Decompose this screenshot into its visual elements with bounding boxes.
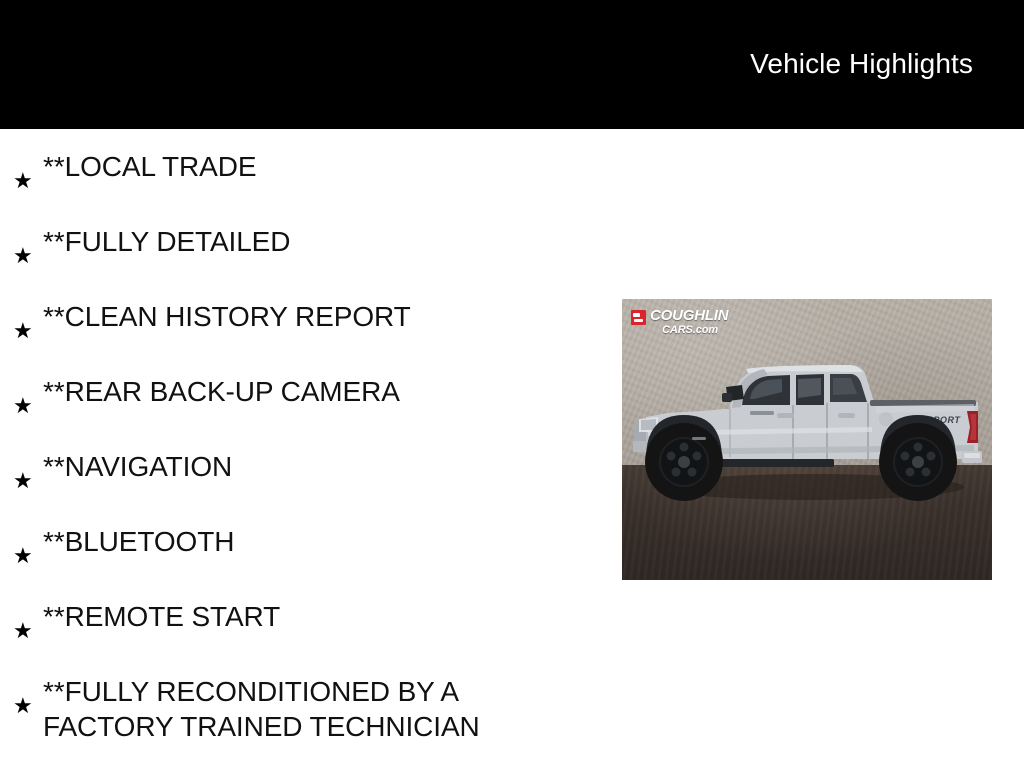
list-item-label: **REAR BACK-UP CAMERA — [43, 374, 400, 409]
list-item-label: **FULLY DETAILED — [43, 224, 290, 259]
watermark-subbrand-suffix: .com — [693, 324, 718, 336]
watermark-subbrand: CARS.com — [662, 325, 728, 336]
star-icon: ★ — [13, 320, 35, 342]
star-icon: ★ — [13, 395, 35, 417]
list-item: ★ **NAVIGATION — [0, 449, 600, 524]
truck-illustration: SPORT — [622, 299, 992, 580]
list-item-label: **REMOTE START — [43, 599, 280, 634]
star-icon: ★ — [13, 470, 35, 492]
star-icon: ★ — [13, 620, 35, 642]
list-item-label: **FULLY RECONDITIONED BY A FACTORY TRAIN… — [43, 674, 480, 744]
watermark-text: COUGHLIN CARS.com — [650, 308, 728, 336]
vehicle-highlights-list: ★ **LOCAL TRADE ★ **FULLY DETAILED ★ **C… — [0, 129, 600, 749]
list-item: ★ **FULLY DETAILED — [0, 224, 600, 299]
list-item: ★ **LOCAL TRADE — [0, 129, 600, 224]
vehicle-photo[interactable]: SPORT — [622, 299, 992, 580]
list-item-label: **NAVIGATION — [43, 449, 232, 484]
list-item-label: **CLEAN HISTORY REPORT — [43, 299, 411, 334]
star-icon: ★ — [13, 545, 35, 567]
header-bar: Vehicle Highlights — [0, 0, 1024, 129]
star-icon: ★ — [13, 245, 35, 267]
star-icon: ★ — [13, 695, 35, 717]
list-item-label: **BLUETOOTH — [43, 524, 234, 559]
list-item: ★ **FULLY RECONDITIONED BY A FACTORY TRA… — [0, 674, 600, 749]
watermark-brand: COUGHLIN — [650, 308, 728, 323]
list-item: ★ **REMOTE START — [0, 599, 600, 674]
list-item: ★ **REAR BACK-UP CAMERA — [0, 374, 600, 449]
page-title: Vehicle Highlights — [750, 48, 973, 80]
watermark-subbrand-main: CARS — [662, 324, 693, 336]
list-item-label: **LOCAL TRADE — [43, 149, 256, 184]
list-item: ★ **BLUETOOTH — [0, 524, 600, 599]
star-icon: ★ — [13, 170, 35, 192]
coughlin-logo-icon — [631, 310, 646, 325]
dealer-watermark: COUGHLIN CARS.com — [631, 308, 728, 336]
list-item: ★ **CLEAN HISTORY REPORT — [0, 299, 600, 374]
